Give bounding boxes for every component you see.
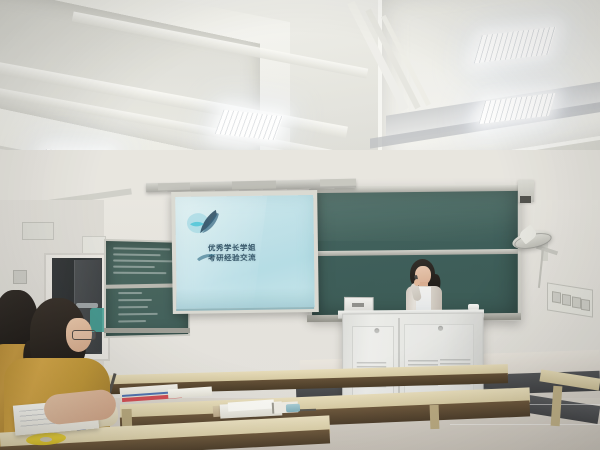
desk-leg bbox=[430, 405, 440, 429]
wall-box bbox=[13, 270, 27, 284]
slide-title-line2: 考研经验交流 bbox=[208, 252, 302, 263]
tape-roll-hole bbox=[40, 437, 52, 442]
side-blackboard-chalk-tray bbox=[104, 328, 190, 333]
laptop-logo-icon bbox=[352, 303, 364, 307]
dolphin-logo-icon bbox=[186, 207, 228, 242]
roller-bracket bbox=[320, 179, 356, 187]
cabinet-door-right[interactable] bbox=[404, 324, 474, 400]
slide-title: 优秀学长学姐 考研经验交流 bbox=[208, 242, 302, 263]
classroom-photo: 优秀学长学姐 考研经验交流 bbox=[0, 0, 600, 450]
cabinet-door-seam bbox=[398, 318, 400, 400]
roller-bracket bbox=[232, 181, 276, 190]
glasses-icon bbox=[72, 330, 96, 340]
floor-tile-line bbox=[450, 424, 600, 425]
speaker-grille-icon bbox=[520, 196, 531, 203]
slide-swoosh-icon bbox=[196, 252, 218, 262]
wall-notice bbox=[22, 222, 54, 240]
presenter-hand bbox=[414, 279, 420, 286]
roller-bracket bbox=[158, 183, 190, 191]
blackboard-sheen bbox=[312, 189, 518, 241]
screen-bottom-shadow bbox=[176, 287, 314, 311]
mobile-phone[interactable] bbox=[286, 404, 300, 413]
